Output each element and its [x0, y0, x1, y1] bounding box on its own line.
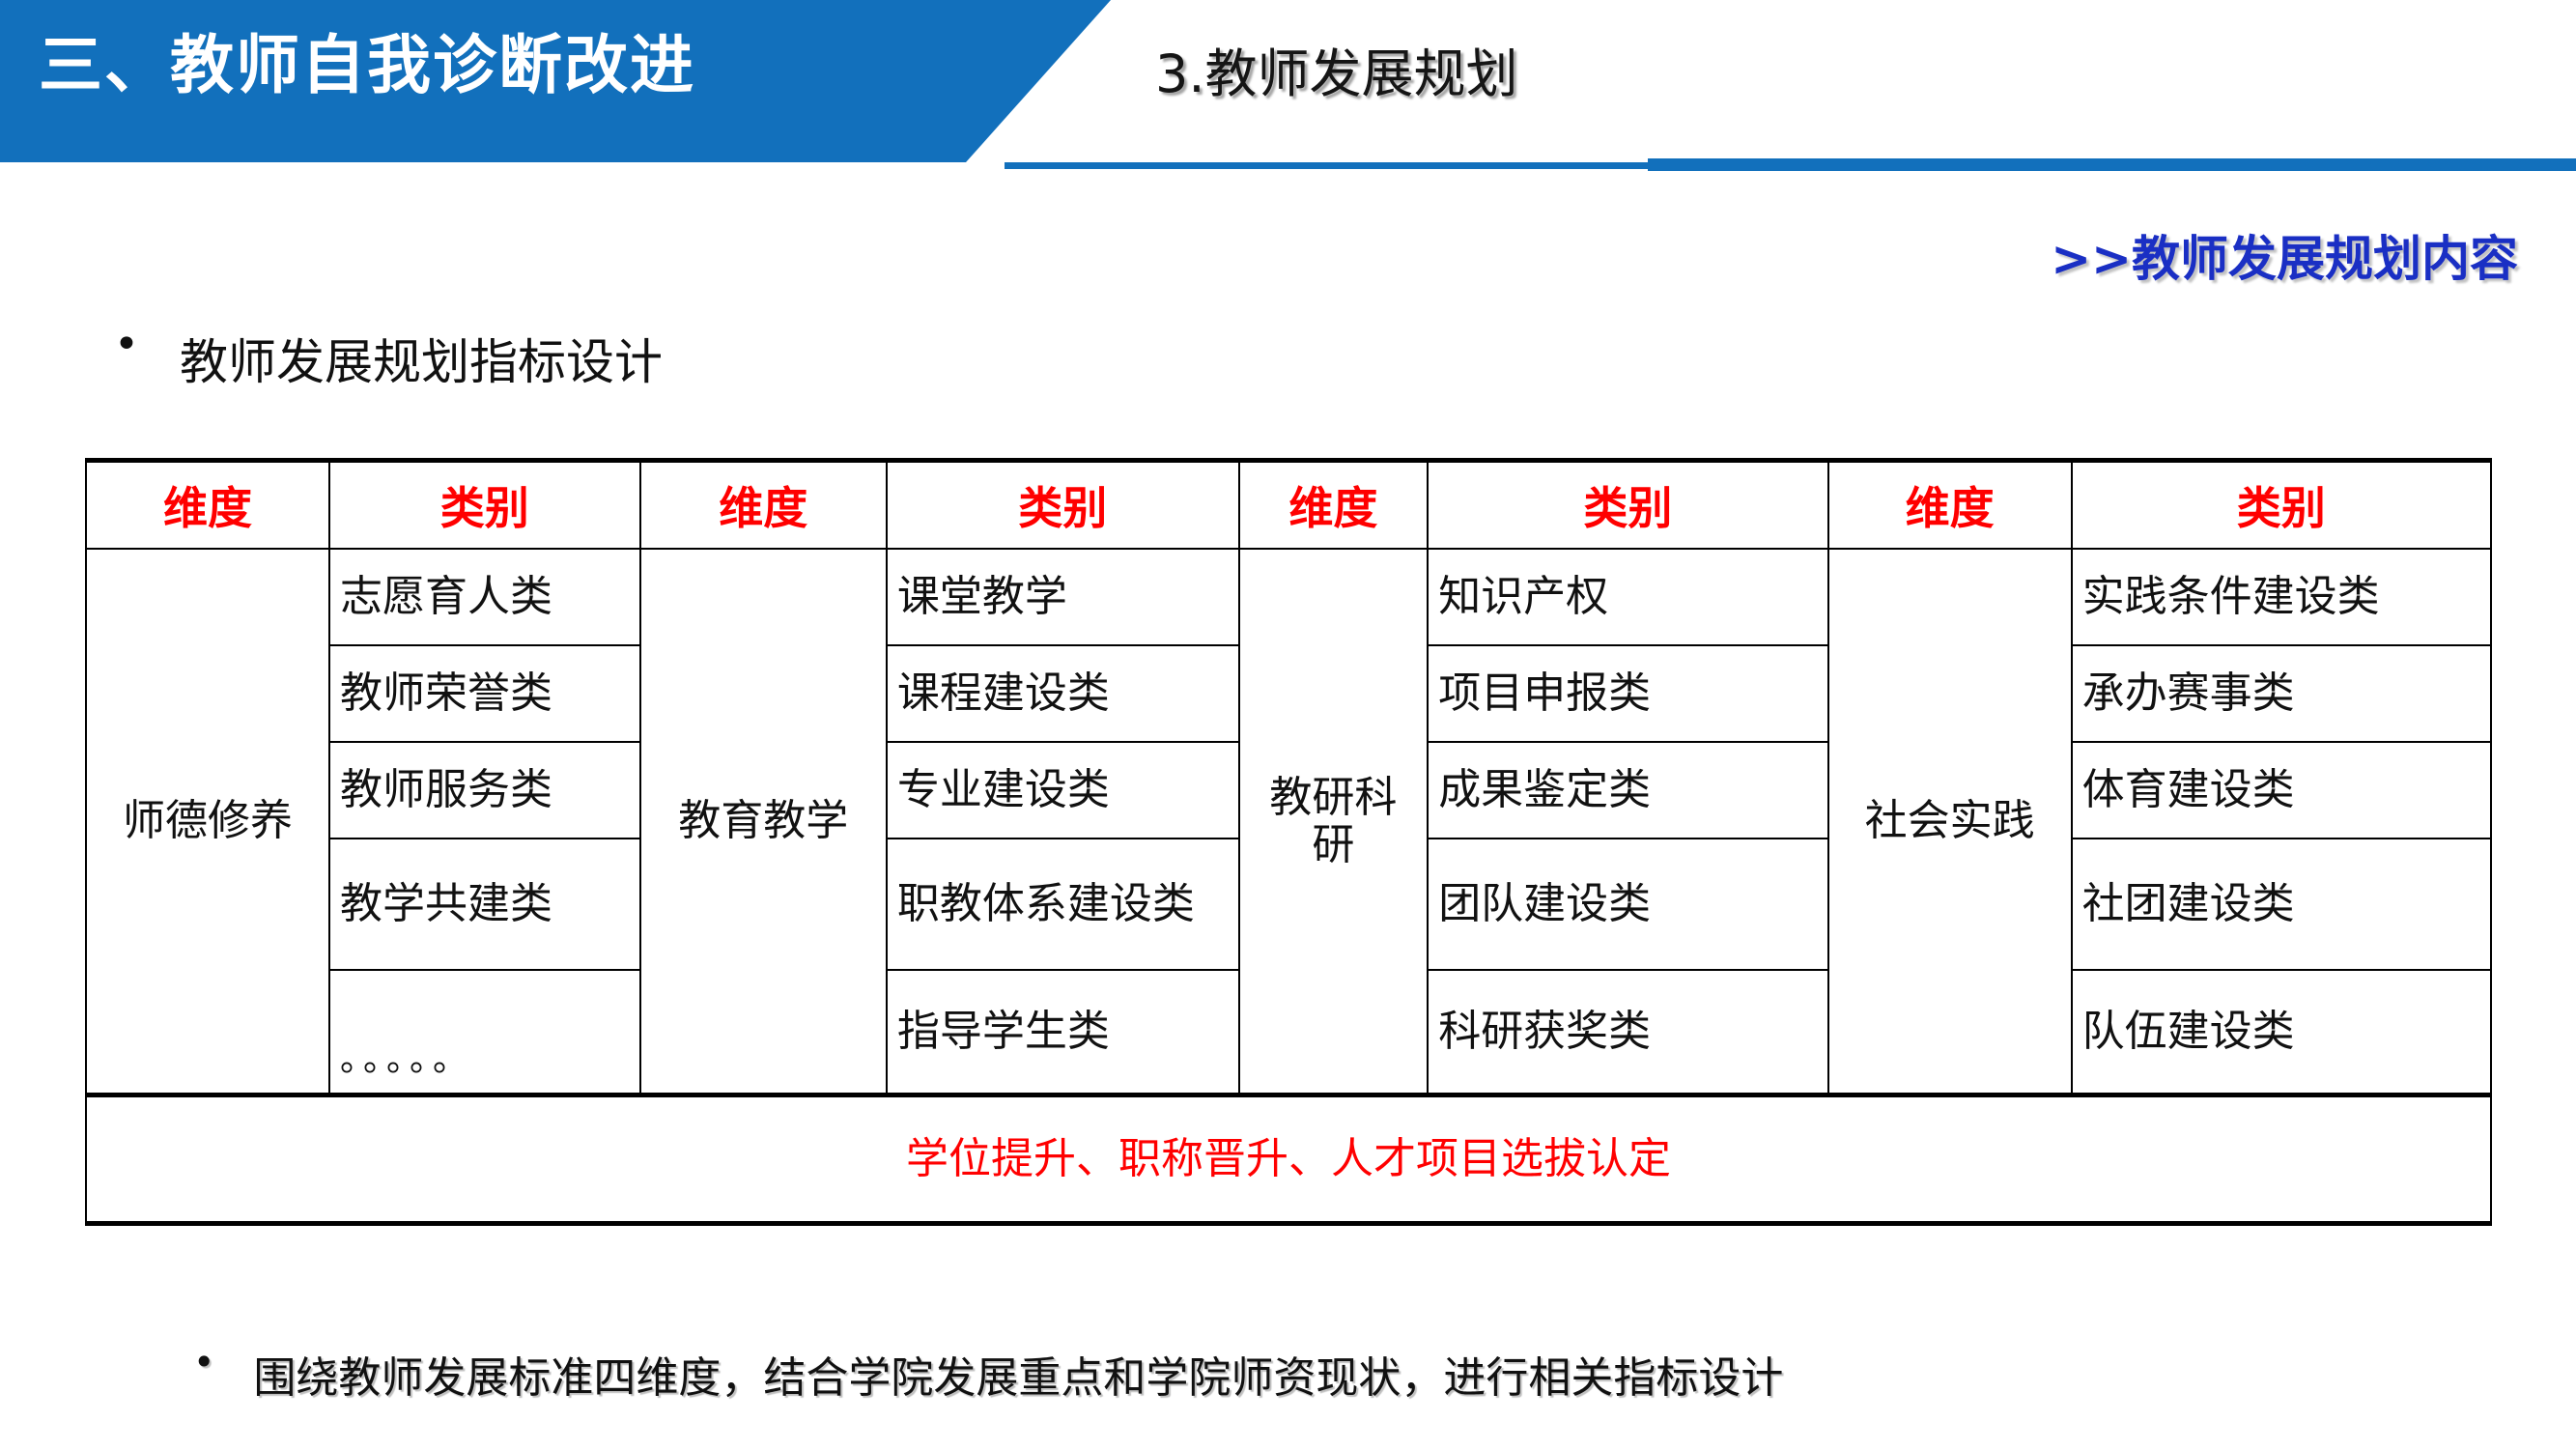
slide-header: 三、教师自我诊断改进 3.教师发展规划: [0, 0, 2576, 179]
category-cell: 社团建设类: [2072, 839, 2491, 970]
bullet-bottom-label: 围绕教师发展标准四维度，结合学院发展重点和学院师资现状，进行相关指标设计: [253, 1343, 1783, 1405]
dimension-cell-3: 教研科研: [1239, 549, 1429, 1095]
indicator-table: 维度 类别 维度 类别 维度 类别 维度 类别 师德修养 志愿育人类 教育教学 …: [85, 458, 2492, 1226]
column-header-dimension-4: 维度: [1828, 461, 2072, 550]
category-cell: 课堂教学: [887, 549, 1239, 645]
bullet-dot-icon: •: [193, 1343, 214, 1383]
category-cell: 教师荣誉类: [329, 645, 640, 742]
table-body: 师德修养 志愿育人类 教育教学 课堂教学 教研科研 知识产权 社会实践 实践条件…: [86, 549, 2491, 1224]
category-cell: 课程建设类: [887, 645, 1239, 742]
dimension-cell-4: 社会实践: [1828, 549, 2072, 1095]
column-header-dimension-2: 维度: [640, 461, 887, 550]
category-cell: 科研获奖类: [1428, 970, 1827, 1095]
dimension-cell-2: 教育教学: [640, 549, 887, 1095]
table-row: 师德修养 志愿育人类 教育教学 课堂教学 教研科研 知识产权 社会实践 实践条件…: [86, 549, 2491, 645]
table-head: 维度 类别 维度 类别 维度 类别 维度 类别: [86, 461, 2491, 550]
column-header-category-1: 类别: [329, 461, 640, 550]
category-cell: 职教体系建设类: [887, 839, 1239, 970]
column-header-dimension-1: 维度: [86, 461, 329, 550]
category-cell: 项目申报类: [1428, 645, 1827, 742]
category-cell: 队伍建设类: [2072, 970, 2491, 1095]
category-cell: 指导学生类: [887, 970, 1239, 1095]
table-footer-row: 学位提升、职称晋升、人才项目选拔认定: [86, 1095, 2491, 1224]
bullet-dot-icon: •: [114, 324, 139, 366]
category-cell: 教学共建类: [329, 839, 640, 970]
category-cell: 团队建设类: [1428, 839, 1827, 970]
banner-title: 三、教师自我诊断改进: [39, 14, 695, 106]
category-cell: 实践条件建设类: [2072, 549, 2491, 645]
dimension-cell-1: 师德修养: [86, 549, 329, 1095]
bullet-top: • 教师发展规划指标设计: [114, 324, 663, 393]
category-cell: 成果鉴定类: [1428, 742, 1827, 839]
section-title: 3.教师发展规划: [1155, 31, 1518, 107]
header-rule-thin: [1005, 162, 1652, 169]
category-cell: 专业建设类: [887, 742, 1239, 839]
column-header-category-2: 类别: [887, 461, 1239, 550]
category-cell: 承办赛事类: [2072, 645, 2491, 742]
category-cell: 体育建设类: [2072, 742, 2491, 839]
column-header-dimension-3: 维度: [1239, 461, 1429, 550]
table-footer-label: 学位提升、职称晋升、人才项目选拔认定: [86, 1095, 2491, 1224]
category-cell: 教师服务类: [329, 742, 640, 839]
category-cell: 志愿育人类: [329, 549, 640, 645]
column-header-category-4: 类别: [2072, 461, 2491, 550]
kicker-label: >>教师发展规划内容: [2051, 220, 2518, 290]
bullet-top-label: 教师发展规划指标设计: [180, 324, 663, 393]
table-header-row: 维度 类别 维度 类别 维度 类别 维度 类别: [86, 461, 2491, 550]
column-header-category-3: 类别: [1428, 461, 1827, 550]
category-cell: 知识产权: [1428, 549, 1827, 645]
category-cell-ellipsis: 。。。。。: [329, 970, 640, 1095]
header-rule-thick: [1648, 158, 2576, 171]
bullet-bottom: • 围绕教师发展标准四维度，结合学院发展重点和学院师资现状，进行相关指标设计: [193, 1343, 1783, 1405]
